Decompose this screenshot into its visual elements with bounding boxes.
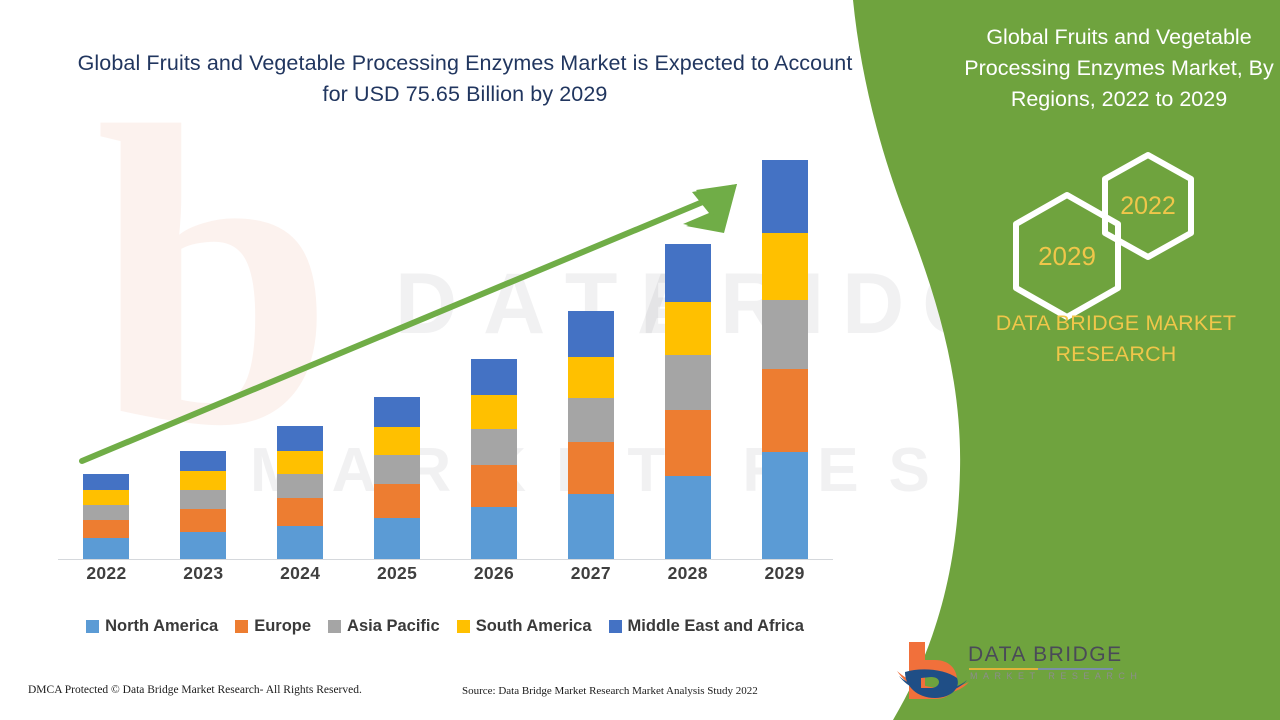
bar-segment[interactable] — [374, 484, 420, 518]
bar-segment[interactable] — [665, 244, 711, 302]
chart-plot-area — [58, 150, 833, 560]
legend-label: Europe — [254, 617, 311, 636]
panel-brand-text: DATA BRIDGE MARKET RESEARCH — [966, 308, 1266, 370]
bar-segment[interactable] — [665, 302, 711, 355]
bar-segment[interactable] — [374, 397, 420, 427]
x-axis-tick-label: 2026 — [446, 563, 543, 584]
bar-segment[interactable] — [180, 451, 226, 471]
bar-segment[interactable] — [568, 398, 614, 442]
bar-segment[interactable] — [665, 410, 711, 476]
bar-segment[interactable] — [277, 451, 323, 474]
bar-segment[interactable] — [277, 498, 323, 526]
hexagon-label-2029: 2029 — [1038, 241, 1096, 272]
stacked-bar[interactable] — [83, 474, 129, 559]
bar-segment[interactable] — [568, 494, 614, 559]
legend-item[interactable]: Asia Pacific — [328, 617, 440, 636]
bar-segment[interactable] — [277, 526, 323, 559]
stacked-bar[interactable] — [762, 160, 808, 559]
footer-source: Source: Data Bridge Market Research Mark… — [462, 685, 758, 697]
bar-segment[interactable] — [180, 509, 226, 532]
data-bridge-logo: DATA BRIDGE MARKET RESEARCH — [895, 638, 1110, 700]
bar-segment[interactable] — [277, 474, 323, 498]
bar-slot — [155, 150, 252, 559]
legend-label: North America — [105, 617, 218, 636]
bar-segment[interactable] — [374, 518, 420, 559]
bar-segment[interactable] — [277, 426, 323, 451]
bar-segment[interactable] — [471, 429, 517, 465]
bar-segment[interactable] — [665, 355, 711, 411]
x-axis-tick-label: 2029 — [736, 563, 833, 584]
legend-swatch-icon — [328, 620, 341, 633]
bar-segment[interactable] — [374, 427, 420, 455]
legend-swatch-icon — [235, 620, 248, 633]
legend-label: South America — [476, 617, 592, 636]
hexagon-label-2022: 2022 — [1120, 192, 1176, 221]
bar-slot — [542, 150, 639, 559]
x-axis-tick-label: 2027 — [542, 563, 639, 584]
x-axis-tick-label: 2025 — [349, 563, 446, 584]
stacked-bar-group — [58, 150, 833, 559]
green-panel-content: Global Fruits and Vegetable Processing E… — [948, 0, 1280, 720]
bar-segment[interactable] — [83, 520, 129, 538]
legend-swatch-icon — [86, 620, 99, 633]
legend-item[interactable]: Middle East and Africa — [609, 617, 804, 636]
stacked-bar[interactable] — [374, 397, 420, 559]
legend-item[interactable]: North America — [86, 617, 218, 636]
bar-segment[interactable] — [180, 490, 226, 509]
bar-segment[interactable] — [762, 300, 808, 370]
bar-segment[interactable] — [762, 452, 808, 559]
legend-swatch-icon — [609, 620, 622, 633]
panel-title: Global Fruits and Vegetable Processing E… — [960, 22, 1278, 115]
x-axis-tick-label: 2024 — [252, 563, 349, 584]
stacked-bar[interactable] — [665, 244, 711, 559]
stacked-bar[interactable] — [471, 359, 517, 559]
stacked-bar[interactable] — [277, 426, 323, 559]
bar-segment[interactable] — [568, 357, 614, 399]
bar-segment[interactable] — [374, 455, 420, 484]
bar-segment[interactable] — [568, 442, 614, 494]
bar-slot — [58, 150, 155, 559]
logo-divider — [969, 668, 1113, 670]
bar-segment[interactable] — [471, 395, 517, 429]
stacked-bar[interactable] — [568, 311, 614, 559]
bar-slot — [446, 150, 543, 559]
bar-slot — [736, 150, 833, 559]
bar-segment[interactable] — [83, 490, 129, 505]
chart-title: Global Fruits and Vegetable Processing E… — [70, 48, 860, 110]
bar-segment[interactable] — [471, 465, 517, 507]
x-axis-tick-label: 2022 — [58, 563, 155, 584]
hexagon-badges: 2022 2029 — [978, 150, 1258, 285]
legend-label: Middle East and Africa — [628, 617, 804, 636]
bar-segment[interactable] — [665, 476, 711, 559]
bar-slot — [252, 150, 349, 559]
x-axis-labels: 20222023202420252026202720282029 — [58, 563, 833, 584]
bar-segment[interactable] — [762, 233, 808, 300]
legend-swatch-icon — [457, 620, 470, 633]
legend-item[interactable]: South America — [457, 617, 592, 636]
stacked-bar[interactable] — [180, 451, 226, 559]
bar-segment[interactable] — [83, 505, 129, 520]
bar-segment[interactable] — [83, 538, 129, 559]
legend-item[interactable]: Europe — [235, 617, 311, 636]
bar-segment[interactable] — [568, 311, 614, 357]
x-axis-tick-label: 2028 — [639, 563, 736, 584]
bar-segment[interactable] — [180, 471, 226, 490]
x-axis-line — [58, 559, 833, 560]
infographic-root: b DATA BRIDGE MARKET RESEARCH Global Fru… — [0, 0, 1280, 720]
bar-segment[interactable] — [762, 369, 808, 452]
hexagon-badge-2029: 2029 — [1008, 190, 1126, 322]
chart-legend: North AmericaEuropeAsia PacificSouth Ame… — [55, 617, 835, 636]
logo-title: DATA BRIDGE — [968, 643, 1123, 667]
bar-segment[interactable] — [471, 359, 517, 396]
bar-slot — [349, 150, 446, 559]
legend-label: Asia Pacific — [347, 617, 440, 636]
bar-segment[interactable] — [180, 532, 226, 559]
x-axis-tick-label: 2023 — [155, 563, 252, 584]
bar-segment[interactable] — [762, 160, 808, 233]
logo-subtitle: MARKET RESEARCH — [970, 671, 1142, 681]
bar-segment[interactable] — [83, 474, 129, 490]
footer-copyright: DMCA Protected © Data Bridge Market Rese… — [28, 684, 362, 696]
bar-slot — [639, 150, 736, 559]
bar-segment[interactable] — [471, 507, 517, 559]
